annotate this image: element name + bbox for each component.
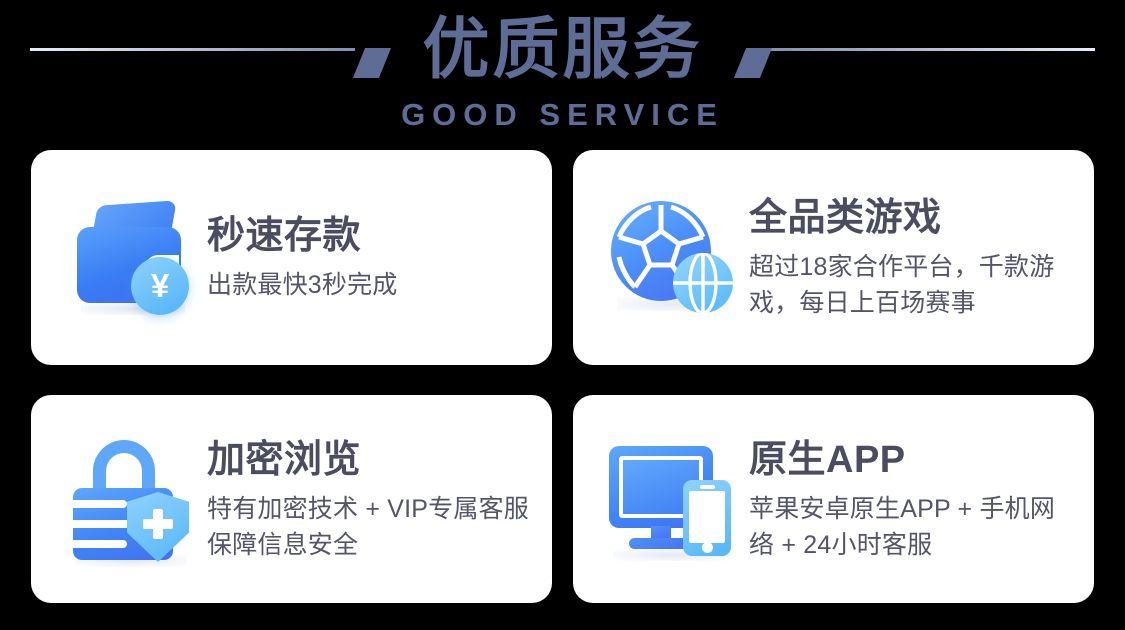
lock-shield-icon [71, 440, 193, 560]
phone-screen [689, 491, 725, 543]
card-icon-container [61, 434, 201, 564]
basketball-icon [673, 253, 733, 313]
card-text-block: 原生APP 苹果安卓原生APP + 手机网络 + 24小时客服 [749, 436, 1094, 563]
page-title: 优质服务 [0, 8, 1125, 92]
lock-slot [73, 500, 127, 508]
card-title: 原生APP [749, 436, 1080, 484]
card-title: 全品类游戏 [749, 194, 1080, 242]
card-icon-container [603, 434, 743, 564]
phone-home-button [702, 542, 713, 553]
monitor-phone-icon [609, 446, 737, 556]
service-card-native-app[interactable]: 原生APP 苹果安卓原生APP + 手机网络 + 24小时客服 [573, 395, 1094, 603]
card-icon-container [603, 193, 743, 323]
service-card-deposit[interactable]: ¥ 秒速存款 出款最快3秒完成 [31, 150, 552, 365]
service-card-games[interactable]: 全品类游戏 超过18家合作平台，千款游戏，每日上百场赛事 [573, 150, 1094, 365]
service-card-encryption[interactable]: 加密浏览 特有加密技术 + VIP专属客服保障信息安全 [31, 395, 552, 603]
phone-speaker [700, 485, 715, 489]
good-service-banner: 优质服务 GOOD SERVICE ¥ 秒速存款 出款最快3秒完成 [0, 0, 1125, 630]
card-subtitle: 超过18家合作平台，千款游戏，每日上百场赛事 [749, 249, 1080, 321]
card-subtitle: 苹果安卓原生APP + 手机网络 + 24小时客服 [749, 491, 1080, 563]
card-title: 加密浏览 [207, 436, 538, 484]
card-title: 秒速存款 [207, 212, 398, 260]
phone-icon [683, 480, 731, 556]
cross-icon [143, 509, 173, 539]
lock-slot [73, 540, 127, 548]
card-subtitle: 出款最快3秒完成 [207, 267, 398, 303]
wallet-yen-icon: ¥ [73, 203, 193, 315]
card-subtitle: 特有加密技术 + VIP专属客服保障信息安全 [207, 491, 538, 563]
yen-coin-icon: ¥ [131, 257, 189, 315]
card-text-block: 加密浏览 特有加密技术 + VIP专属客服保障信息安全 [207, 436, 552, 563]
card-text-block: 秒速存款 出款最快3秒完成 [207, 212, 412, 303]
service-card-grid: ¥ 秒速存款 出款最快3秒完成 [31, 150, 1094, 603]
card-icon-container: ¥ [61, 193, 201, 323]
banner-header: 优质服务 GOOD SERVICE [0, 0, 1125, 145]
page-subtitle: GOOD SERVICE [0, 97, 1125, 133]
soccer-basketball-icon [611, 201, 737, 317]
card-text-block: 全品类游戏 超过18家合作平台，千款游戏，每日上百场赛事 [749, 194, 1094, 321]
